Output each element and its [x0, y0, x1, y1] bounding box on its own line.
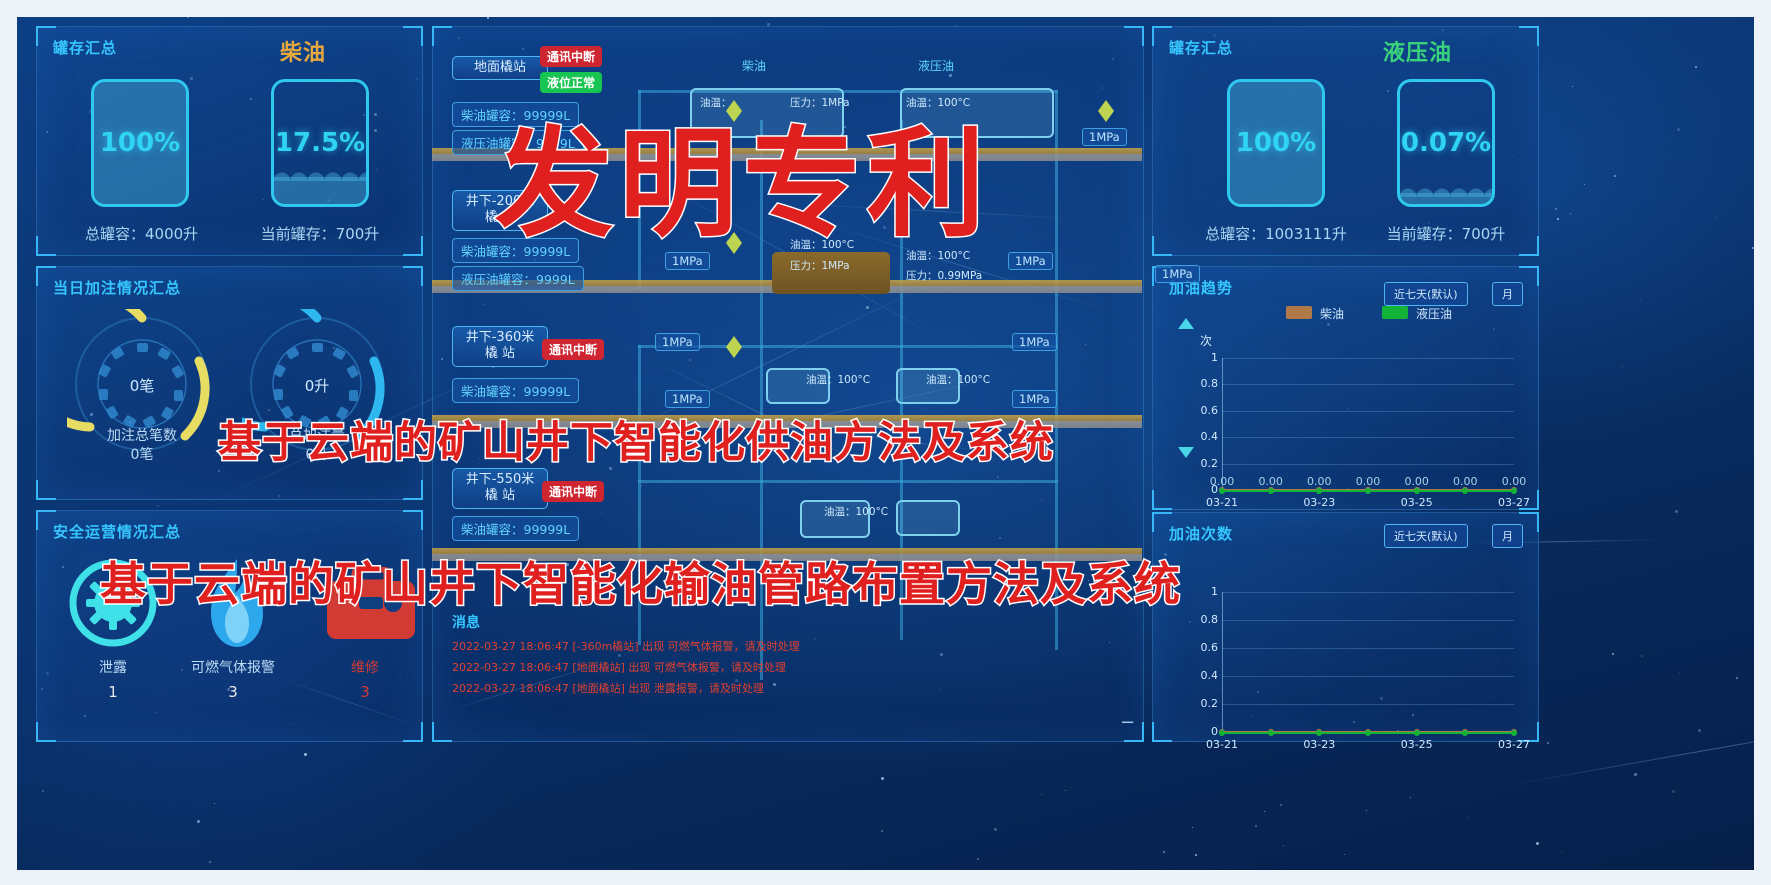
frame-border-bottom	[0, 870, 1771, 885]
watermark-patent-2: 基于云端的矿山井下智能化输油管路布置方法及系统	[100, 548, 1181, 614]
corner-decoration	[36, 722, 56, 742]
chart-gridline	[1222, 437, 1514, 438]
chart-data-point	[1511, 488, 1517, 494]
chart-gridline	[1222, 676, 1514, 677]
safety-label-maintenance: 维修	[295, 657, 435, 677]
station-name-line2: 橇 站	[461, 488, 539, 504]
tank-fill	[274, 177, 366, 204]
pressure-tag-7: 1MPa	[1012, 390, 1057, 408]
corner-decoration	[403, 236, 423, 256]
status-badge-comm-interrupt: 通讯中断	[542, 339, 604, 360]
chart-gridline	[1222, 464, 1514, 465]
trend-y-axis-unit: 次	[1200, 332, 1212, 349]
tank-percent-value: 100%	[1230, 128, 1322, 158]
chart-gridline	[1222, 411, 1514, 412]
pressure-tag-6: 1MPa	[665, 390, 710, 408]
station-name-550m[interactable]: 井下-550米 橇 站	[452, 468, 548, 509]
count-range-button-week[interactable]: 近七天(默认)	[1384, 524, 1468, 548]
chart-gridline	[1222, 384, 1514, 385]
chart-x-tick: 03-23	[1297, 496, 1341, 509]
tank-percent-value: 17.5%	[274, 128, 366, 158]
legend-swatch-diesel	[1286, 306, 1312, 319]
valve-icon	[726, 347, 742, 358]
panel-title-tank-summary-right: 罐存汇总	[1169, 37, 1233, 58]
gauge-value: 0笔	[67, 375, 217, 396]
tank-caption: 总罐容：1003111升	[1201, 223, 1351, 244]
message-log-title: 消息	[452, 612, 480, 632]
station-name-360m[interactable]: 井下-360米 橇 站	[452, 326, 548, 367]
corner-decoration	[403, 510, 423, 530]
safety-count-gas-alarm: 3	[163, 683, 303, 701]
tank-total-left: 100% 总罐容：4000升	[85, 79, 195, 244]
trend-range-button-month[interactable]: 月	[1492, 282, 1523, 306]
pressure-tag-2: 1MPa	[1008, 252, 1053, 270]
frame-border-top	[0, 0, 1771, 17]
chart-gridline	[1222, 648, 1514, 649]
legend-label-hydraulic: 液压油	[1416, 305, 1452, 322]
tank-current-left: 17.5% 当前罐存：700升	[255, 79, 385, 244]
watermark-patent-1: 基于云端的矿山井下智能化供油方法及系统	[218, 408, 1054, 470]
chart-y-tick: 0.4	[1188, 669, 1218, 682]
corner-decoration	[36, 480, 56, 500]
equipment-label-diesel: 柴油	[742, 57, 766, 74]
chart-y-tick: 0.8	[1188, 377, 1218, 390]
pressure-tag-1: 1MPa	[1082, 128, 1127, 146]
corner-decoration	[1152, 236, 1172, 256]
chart-data-point	[1268, 488, 1274, 494]
chart-gridline	[1222, 358, 1514, 359]
pipe-horizontal	[638, 345, 1058, 348]
chart-data-point	[1365, 730, 1371, 736]
chart-y-axis	[1222, 592, 1223, 732]
valve-icon	[1098, 100, 1114, 111]
valve-icon	[1098, 111, 1114, 122]
panel-title-tank-summary-left: 罐存汇总	[53, 37, 117, 58]
equipment-label-hydraulic: 液压油	[918, 57, 954, 74]
capacity-diesel-360m: 柴油罐容：99999L	[452, 378, 579, 403]
chart-data-point	[1365, 488, 1371, 494]
panel-title-safety-summary: 安全运营情况汇总	[53, 521, 181, 542]
chart-data-point	[1511, 730, 1517, 736]
count-range-button-month[interactable]: 月	[1492, 524, 1523, 548]
pressure-tag-5: 1MPa	[1012, 333, 1057, 351]
gauge-label-line1: 加注总笔数	[62, 427, 222, 446]
corner-decoration	[403, 480, 423, 500]
tank-total-right: 100% 总罐容：1003111升	[1201, 79, 1351, 244]
chart-series-segment	[1222, 732, 1271, 734]
chart-x-tick: 03-21	[1200, 496, 1244, 509]
chart-series-segment	[1271, 732, 1320, 734]
panel-left-tank-summary: 罐存汇总 柴油 100% 总罐容：4000升 17.5% 当前罐存：700升	[36, 26, 423, 256]
status-badge-comm-interrupt: 通讯中断	[540, 46, 602, 67]
chart-series-segment	[1222, 490, 1271, 492]
tank-550m-b	[896, 500, 960, 536]
corner-decoration	[1519, 236, 1539, 256]
chart-series-segment	[1368, 732, 1417, 734]
chart-y-tick: 0.6	[1188, 404, 1218, 417]
gauge-label-line2: 0笔	[62, 446, 222, 465]
message-row: 2022-03-27 18:06:47 [-360m橇站] 出现 可燃气体报警，…	[452, 638, 800, 654]
chart-y-tick: 0.6	[1188, 641, 1218, 654]
corner-decoration	[432, 26, 452, 46]
chart-data-point	[1414, 488, 1420, 494]
capacity-diesel-550m: 柴油罐容：99999L	[452, 516, 579, 541]
chart-data-point	[1414, 730, 1420, 736]
minus-icon[interactable]: −	[1120, 712, 1135, 733]
safety-count-leak: 1	[43, 683, 183, 701]
safety-label-gas-alarm: 可燃气体报警	[163, 657, 303, 677]
tank-shape: 100%	[91, 79, 189, 207]
tank-wave-decoration	[1400, 185, 1492, 197]
tank-shape: 100%	[1227, 79, 1325, 207]
chart-y-tick: 1	[1188, 585, 1218, 598]
pressure-tag-8: 1MPa	[1155, 265, 1200, 283]
safety-count-maintenance: 3	[295, 683, 435, 701]
chart-data-point	[1219, 730, 1225, 736]
chart-series-segment	[1319, 490, 1368, 492]
panel-title-refuel-count: 加油次数	[1169, 523, 1233, 544]
tank-shape: 17.5%	[271, 79, 369, 207]
message-row: 2022-03-27 18:06:47 [地面橇站] 出现 泄露报警，请及时处理	[452, 680, 764, 696]
gauge-label-refuel-count: 加注总笔数 0笔	[62, 427, 222, 465]
gauge-value: 0升	[242, 375, 392, 396]
frame-border-left	[0, 0, 17, 885]
chart-gridline	[1222, 592, 1514, 593]
trend-range-button-week[interactable]: 近七天(默认)	[1384, 282, 1468, 306]
equipment-label-pressure-3: 压力：0.99MPa	[906, 268, 982, 283]
chart-x-tick: 03-25	[1395, 738, 1439, 751]
panel-right-tank-summary: 罐存汇总 液压油 100% 总罐容：1003111升 0.07% 当前罐存：70…	[1152, 26, 1539, 256]
message-row: 2022-03-27 18:06:47 [地面橇站] 出现 可燃气体报警，请及时…	[452, 659, 786, 675]
chart-x-tick: 03-27	[1492, 738, 1536, 751]
fuel-type-label-diesel: 柴油	[280, 35, 326, 67]
tank-fill	[1400, 193, 1492, 204]
equipment-label-oiltemp-5: 油温：100°C	[806, 372, 870, 387]
tank-caption: 总罐容：4000升	[85, 223, 195, 244]
chart-x-tick: 03-21	[1200, 738, 1244, 751]
station-name-line1: 井下-360米	[461, 330, 539, 346]
station-name-surface[interactable]: 地面橇站	[452, 56, 548, 80]
safety-label-leak: 泄露	[43, 657, 183, 677]
tank-current-right: 0.07% 当前罐存：700升	[1381, 79, 1511, 244]
chart-x-tick: 03-27	[1492, 496, 1536, 509]
corner-decoration	[1152, 490, 1172, 510]
chart-series-segment	[1319, 732, 1368, 734]
corner-decoration	[432, 722, 452, 742]
corner-decoration	[36, 236, 56, 256]
corner-decoration	[1519, 26, 1539, 46]
pressure-tag-4: 1MPa	[655, 333, 700, 351]
chart-series-segment	[1271, 490, 1320, 492]
capacity-hydraulic-200m: 液压油罐容：9999L	[452, 266, 584, 291]
chart-series-segment	[1465, 732, 1514, 734]
corner-decoration	[403, 722, 423, 742]
chart-series-segment	[1417, 490, 1466, 492]
fuel-type-label-hydraulic: 液压油	[1383, 35, 1452, 67]
tank-caption: 当前罐存：700升	[255, 223, 385, 244]
status-badge-comm-interrupt: 通讯中断	[542, 481, 604, 502]
station-name-line2: 橇 站	[461, 346, 539, 362]
equipment-label-oiltemp-7: 油温：100°C	[824, 504, 888, 519]
chart-y-tick: 0.4	[1188, 430, 1218, 443]
legend-swatch-hydraulic	[1382, 306, 1408, 319]
station-name-line1: 井下-550米	[461, 472, 539, 488]
chart-series-segment	[1465, 490, 1514, 492]
corner-decoration	[403, 266, 423, 286]
chart-y-tick: 1	[1188, 351, 1218, 364]
chart-y-axis	[1222, 358, 1223, 490]
chart-y-tick: 0.8	[1188, 613, 1218, 626]
chart-y-tick: 0.2	[1188, 457, 1218, 470]
valve-icon	[1178, 318, 1194, 329]
pipe-horizontal	[638, 480, 1058, 483]
chart-data-point	[1219, 488, 1225, 494]
chart-gridline	[1222, 704, 1514, 705]
dashboard-root: 罐存汇总 柴油 100% 总罐容：4000升 17.5% 当前罐存：700升 当…	[0, 0, 1771, 885]
tank-wave-decoration	[274, 169, 366, 181]
chart-y-tick: 0	[1188, 725, 1218, 738]
watermark-patent-title: 发明专利	[495, 88, 991, 259]
legend-label-diesel: 柴油	[1320, 305, 1344, 322]
chart-y-tick: 0.2	[1188, 697, 1218, 710]
chart-series-segment	[1368, 490, 1417, 492]
tank-shape: 0.07%	[1397, 79, 1495, 207]
equipment-label-oiltemp-6: 油温：100°C	[926, 372, 990, 387]
chart-gridline	[1222, 620, 1514, 621]
tank-percent-value: 0.07%	[1400, 128, 1492, 158]
corner-decoration	[403, 26, 423, 46]
corner-decoration	[1152, 722, 1172, 742]
panel-title-daily-refuel: 当日加注情况汇总	[53, 277, 181, 298]
chart-data-point	[1268, 730, 1274, 736]
chart-series-segment	[1417, 732, 1466, 734]
corner-decoration	[1124, 26, 1144, 46]
chart-x-tick: 03-23	[1297, 738, 1341, 751]
tank-caption: 当前罐存：700升	[1381, 223, 1511, 244]
panel-left-safety-summary: 安全运营情况汇总 泄露 1 可燃	[36, 510, 423, 742]
valve-icon	[726, 336, 742, 347]
chart-x-tick: 03-25	[1395, 496, 1439, 509]
frame-border-right	[1754, 0, 1771, 885]
equipment-label-pressure-2: 压力：1MPa	[790, 258, 850, 273]
tank-percent-value: 100%	[94, 128, 186, 158]
